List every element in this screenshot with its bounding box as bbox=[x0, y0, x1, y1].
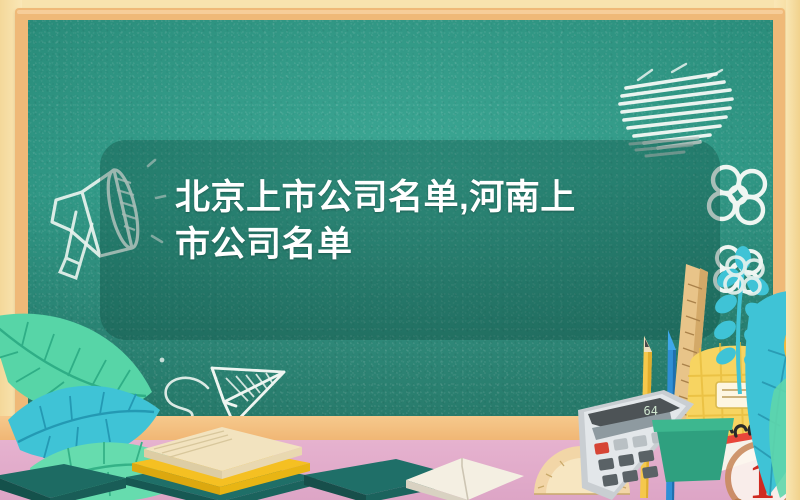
notebook-open-right bbox=[400, 450, 530, 500]
book-stack bbox=[110, 415, 330, 500]
page-title: 北京上市公司名单,河南上 市公司名单 bbox=[175, 175, 635, 268]
mat-edge-right bbox=[786, 0, 800, 500]
banner-image: 北京上市公司名单,河南上 市公司名单 bbox=[0, 0, 800, 500]
pot-green bbox=[648, 418, 738, 488]
notebook-dark-left bbox=[0, 462, 134, 500]
frame-highlight bbox=[17, 10, 783, 14]
